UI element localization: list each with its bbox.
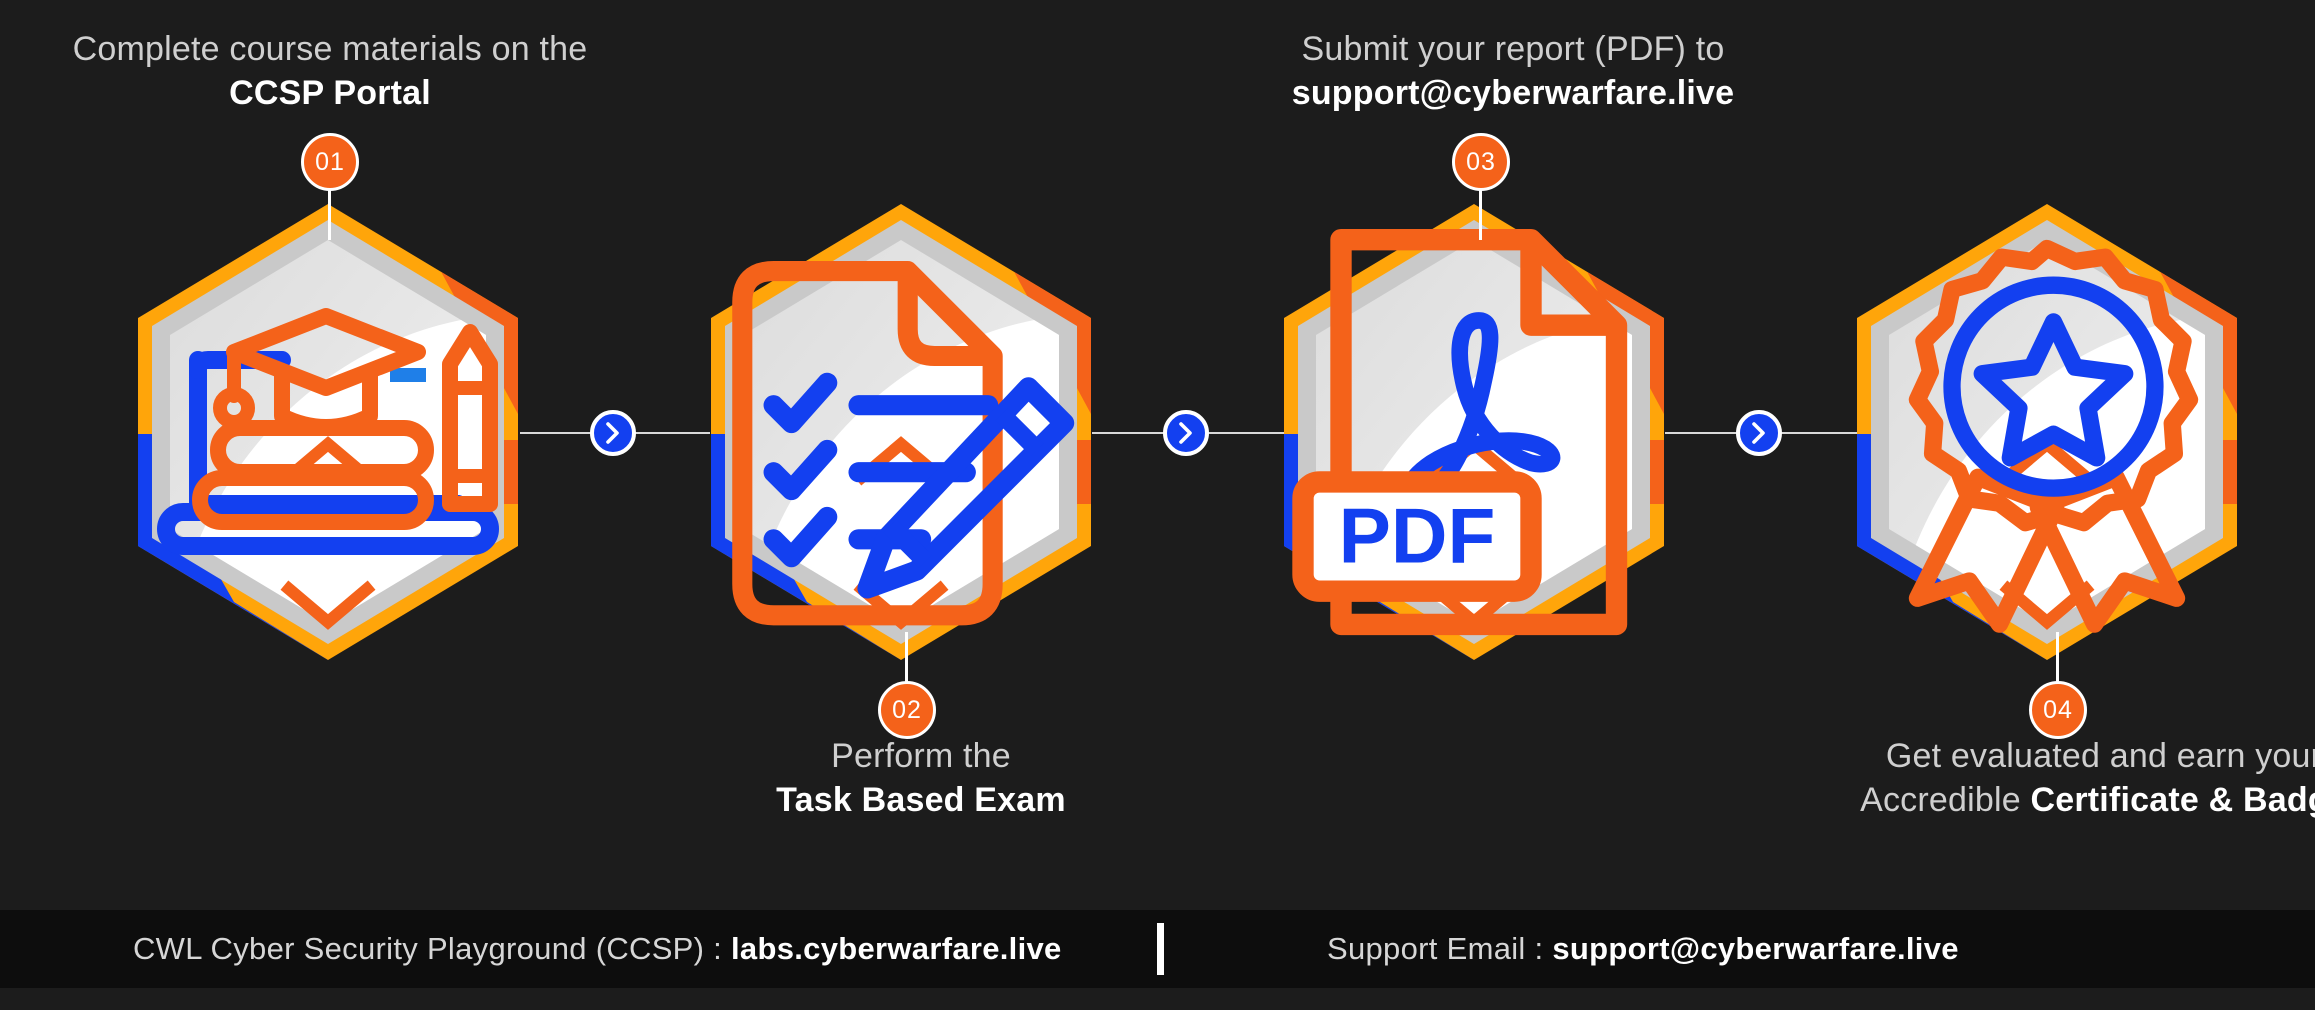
footer-playground-url[interactable]: labs.cyberwarfare.live: [731, 931, 1062, 966]
stem-02: [905, 632, 908, 684]
step-number-badge-02[interactable]: 02: [878, 681, 936, 739]
stem-04: [2056, 632, 2059, 684]
footer-support-email[interactable]: support@cyberwarfare.live: [1552, 931, 1958, 966]
step-caption-01-bold: CCSP Portal: [20, 72, 640, 116]
step-number-badge-03[interactable]: 03: [1452, 133, 1510, 191]
step-caption-02-light: Perform the: [611, 735, 1231, 779]
footer-playground-info: CWL Cyber Security Playground (CCSP) : l…: [133, 931, 1062, 967]
step-caption-04-mixed: Accredible Certificate & Badge: [1794, 779, 2315, 823]
infographic-canvas: Complete course materials on the CCSP Po…: [0, 0, 2315, 1010]
step-hexagon-03[interactable]: PDF: [1284, 204, 1664, 660]
step-caption-02: Perform the Task Based Exam: [611, 735, 1231, 822]
stem-03: [1479, 190, 1482, 240]
chevron-right-icon: [602, 420, 624, 446]
step-caption-01: Complete course materials on the CCSP Po…: [20, 28, 640, 115]
step-hexagon-02[interactable]: [711, 204, 1091, 660]
step-caption-03: Submit your report (PDF) to support@cybe…: [1203, 28, 1823, 115]
step-number-badge-04[interactable]: 04: [2029, 681, 2087, 739]
bottom-strip: [0, 988, 2315, 1010]
chevron-right-icon: [1175, 420, 1197, 446]
footer-playground-label: CWL Cyber Security Playground (CCSP) :: [133, 931, 731, 966]
step-caption-04-prefix: Accredible: [1860, 781, 2030, 819]
connector-arrow-3[interactable]: [1736, 410, 1782, 456]
connector-arrow-1[interactable]: [590, 410, 636, 456]
footer-support-label: Support Email :: [1327, 931, 1552, 966]
step-caption-04: Get evaluated and earn your Accredible C…: [1794, 735, 2315, 822]
footer-divider: [1157, 923, 1164, 975]
step-caption-04-light: Get evaluated and earn your: [1794, 735, 2315, 779]
step-hexagon-04[interactable]: [1857, 204, 2237, 660]
step-hexagon-01[interactable]: [138, 204, 518, 660]
step-number-badge-01[interactable]: 01: [301, 133, 359, 191]
step-caption-03-light: Submit your report (PDF) to: [1203, 28, 1823, 72]
step-caption-04-bold: Certificate & Badge: [2030, 781, 2315, 819]
step-caption-03-bold: support@cyberwarfare.live: [1203, 72, 1823, 116]
stem-01: [328, 190, 331, 240]
step-caption-01-light: Complete course materials on the: [20, 28, 640, 72]
footer-bar: CWL Cyber Security Playground (CCSP) : l…: [0, 910, 2315, 988]
chevron-right-icon: [1748, 420, 1770, 446]
connector-arrow-2[interactable]: [1163, 410, 1209, 456]
step-caption-02-bold: Task Based Exam: [611, 779, 1231, 823]
footer-support-info: Support Email : support@cyberwarfare.liv…: [1327, 931, 1959, 967]
